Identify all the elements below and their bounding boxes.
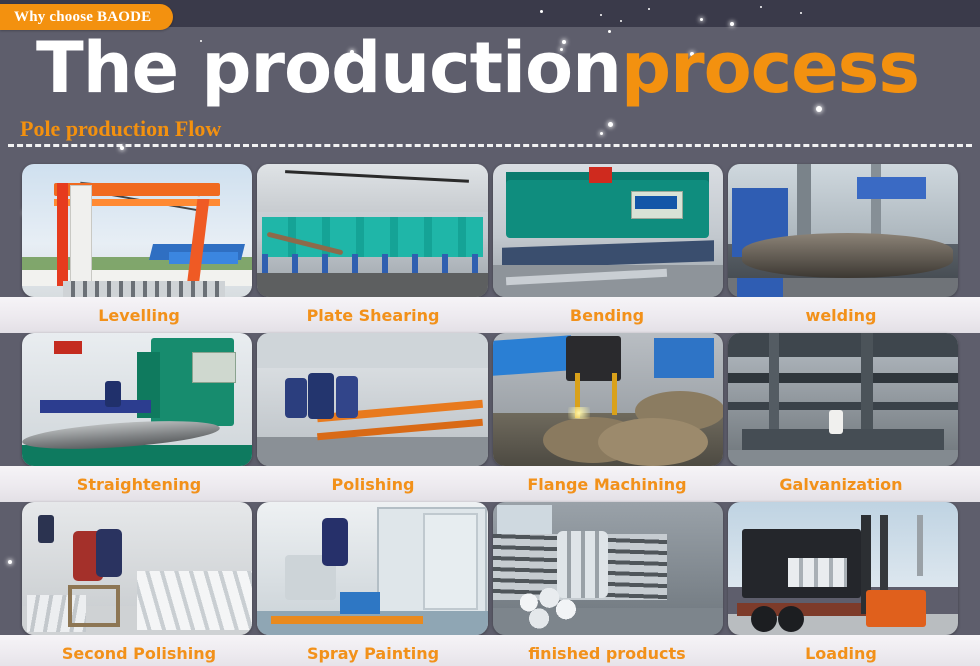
process-row-1: Levelling Plate Shearing Bending welding bbox=[0, 164, 980, 333]
caption-bar-1: Levelling Plate Shearing Bending welding bbox=[0, 297, 980, 333]
process-photo-bending[interactable] bbox=[493, 164, 723, 297]
process-photo-welding[interactable] bbox=[728, 164, 958, 297]
caption-bar-2: Straightening Polishing Flange Machining… bbox=[0, 466, 980, 502]
caption-finished-products: finished products bbox=[490, 644, 724, 663]
page-title-accent: process bbox=[621, 27, 919, 109]
process-photo-spray-painting[interactable] bbox=[257, 502, 487, 635]
dashed-divider bbox=[8, 144, 972, 147]
process-grid: Levelling Plate Shearing Bending welding bbox=[0, 164, 980, 666]
process-photo-flange-machining[interactable] bbox=[493, 333, 723, 466]
process-photo-loading[interactable] bbox=[728, 502, 958, 635]
caption-bending: Bending bbox=[490, 306, 724, 325]
process-photo-polishing[interactable] bbox=[257, 333, 487, 466]
caption-galvanization: Galvanization bbox=[724, 475, 958, 494]
caption-second-polishing: Second Polishing bbox=[22, 644, 256, 663]
caption-plate-shearing: Plate Shearing bbox=[256, 306, 490, 325]
caption-loading: Loading bbox=[724, 644, 958, 663]
caption-levelling: Levelling bbox=[22, 306, 256, 325]
thumbnail-row-1 bbox=[0, 164, 980, 297]
thumbnail-row-2 bbox=[0, 333, 980, 466]
page-title: The productionprocess bbox=[36, 32, 919, 104]
caption-flange-machining: Flange Machining bbox=[490, 475, 724, 494]
why-choose-badge: Why choose BAODE bbox=[0, 4, 173, 30]
page-subtitle: Pole production Flow bbox=[20, 116, 221, 142]
process-photo-straightening[interactable] bbox=[22, 333, 252, 466]
caption-straightening: Straightening bbox=[22, 475, 256, 494]
caption-welding: welding bbox=[724, 306, 958, 325]
infographic-page: Why choose BAODE The productionprocess P… bbox=[0, 0, 980, 666]
process-row-3: Second Polishing Spray Painting finished… bbox=[0, 502, 980, 666]
caption-spray-painting: Spray Painting bbox=[256, 644, 490, 663]
page-title-primary: The production bbox=[36, 27, 621, 109]
process-photo-second-polishing[interactable] bbox=[22, 502, 252, 635]
caption-polishing: Polishing bbox=[256, 475, 490, 494]
process-photo-plate-shearing[interactable] bbox=[257, 164, 487, 297]
process-row-2: Straightening Polishing Flange Machining… bbox=[0, 333, 980, 502]
process-photo-finished-products[interactable] bbox=[493, 502, 723, 635]
process-photo-levelling[interactable] bbox=[22, 164, 252, 297]
process-photo-galvanization[interactable] bbox=[728, 333, 958, 466]
caption-bar-3: Second Polishing Spray Painting finished… bbox=[0, 635, 980, 666]
thumbnail-row-3 bbox=[0, 502, 980, 635]
